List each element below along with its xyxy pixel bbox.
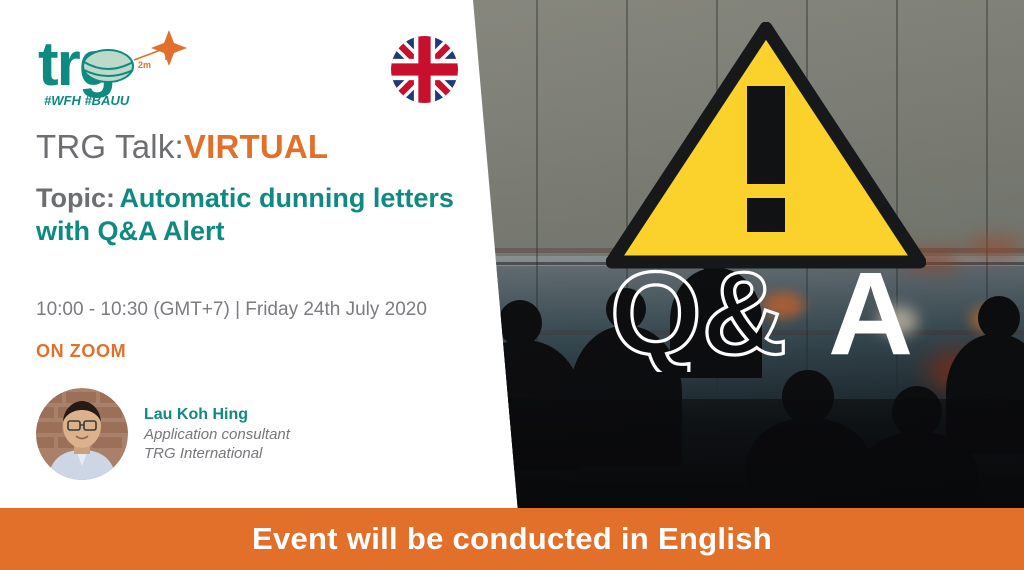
svg-text:Q&: Q& [610, 262, 787, 372]
language-banner: Event will be conducted in English [0, 508, 1024, 570]
speaker-avatar [36, 388, 128, 480]
svg-text:#WFH #BAUU: #WFH #BAUU [44, 93, 130, 108]
warning-triangle-icon [606, 22, 926, 270]
topic-label: Topic: [36, 183, 115, 213]
speaker-organization: TRG International [144, 444, 290, 463]
svg-text:2m: 2m [138, 60, 151, 70]
platform-label: ON ZOOM [36, 341, 126, 362]
topic-block: Topic: Automatic dunning letters with Q&… [36, 182, 456, 247]
language-banner-text: Event will be conducted in English [252, 521, 772, 557]
speaker-name: Lau Koh Hing [144, 405, 290, 425]
talk-title: TRG Talk:VIRTUAL [36, 128, 328, 166]
talk-title-prefix: TRG Talk: [36, 128, 184, 165]
united-kingdom-flag-icon [391, 36, 458, 103]
event-photo: Q& A [430, 0, 1024, 512]
qa-lettering: Q& A [610, 262, 1010, 372]
talk-title-highlight: VIRTUAL [184, 128, 328, 165]
svg-text:A: A [828, 262, 913, 372]
speaker-details: Lau Koh Hing Application consultant TRG … [144, 405, 290, 464]
speaker-block: Lau Koh Hing Application consultant TRG … [36, 388, 290, 480]
trg-logo: trg 2m #WFH #BAUU [38, 30, 198, 112]
speaker-role: Application consultant [144, 425, 290, 444]
schedule-text: 10:00 - 10:30 (GMT+7) | Friday 24th July… [36, 299, 427, 321]
left-panel: trg 2m #WFH #BAUU [0, 0, 500, 512]
poster-canvas: Q& A trg 2m [0, 0, 1024, 570]
